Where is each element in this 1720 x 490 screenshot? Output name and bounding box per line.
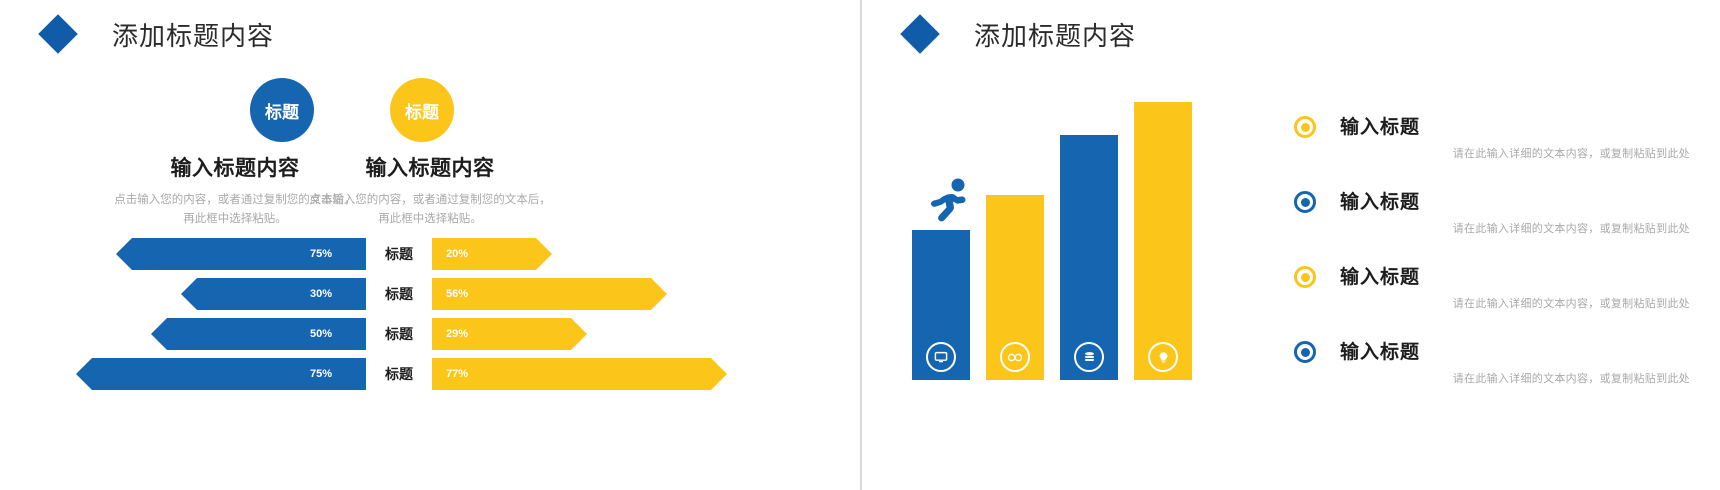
arrow-right-2[interactable]: 56% — [432, 278, 667, 310]
column-desc-2-line2: 再此框中选择粘贴。 — [300, 210, 560, 229]
database-icon — [1074, 342, 1104, 372]
slide-left-header: 添加标题内容 — [40, 14, 274, 54]
list-item-desc-4: 请在此输入详细的文本内容，或复制粘贴到此处 — [1340, 370, 1694, 386]
slide-right: 添加标题内容 — [860, 0, 1720, 490]
arrow-right-1[interactable]: 20% — [432, 238, 552, 270]
arrow-row-label-4: 标题 — [370, 358, 428, 390]
bar-chart-bars — [912, 90, 1242, 380]
arrow-row-label-3: 标题 — [370, 318, 428, 350]
page-title: 添加标题内容 — [112, 16, 274, 53]
bar-column-2 — [986, 195, 1044, 380]
list-item[interactable]: 输入标题 请在此输入详细的文本内容，或复制粘贴到此处 — [1294, 337, 1694, 386]
running-man-icon — [920, 174, 976, 230]
bar-column-1 — [912, 230, 970, 380]
bullet-ring-icon — [1294, 266, 1316, 288]
arrow-left-4[interactable]: 75% — [76, 358, 366, 390]
infinity-icon — [1000, 342, 1030, 372]
arrow-row: 30% 标题 56% — [0, 278, 860, 310]
arrow-row: 50% 标题 29% — [0, 318, 860, 350]
arrow-bar-chart: 75% 标题 20% 30% 标题 56% 50% 标题 29% 75% 标题 … — [0, 238, 860, 398]
slide-right-header: 添加标题内容 — [902, 14, 1136, 54]
list-item-title-4: 输入标题 — [1340, 337, 1694, 364]
list-item-title-1: 输入标题 — [1340, 112, 1694, 139]
arrow-left-3[interactable]: 50% — [151, 318, 366, 350]
logo-diamond-blue — [900, 14, 940, 54]
list-item[interactable]: 输入标题 请在此输入详细的文本内容，或复制粘贴到此处 — [1294, 262, 1694, 311]
bar-1[interactable] — [912, 230, 970, 380]
left-columns: 标题 输入标题内容 点击输入您的内容，或者通过复制您的文本后， 再此框中选择粘贴… — [0, 78, 860, 248]
list-item-title-2: 输入标题 — [1340, 187, 1694, 214]
bar-column-3 — [1060, 135, 1118, 380]
arrow-row: 75% 标题 20% — [0, 238, 860, 270]
list-item-desc-3: 请在此输入详细的文本内容，或复制粘贴到此处 — [1340, 295, 1694, 311]
column-badge-2: 标题 — [390, 78, 454, 142]
page-title: 添加标题内容 — [974, 16, 1136, 53]
feature-list: 输入标题 请在此输入详细的文本内容，或复制粘贴到此处 输入标题 请在此输入详细的… — [1294, 112, 1694, 412]
column-block-2: 标题 输入标题内容 点击输入您的内容，或者通过复制您的文本后， 再此框中选择粘贴… — [300, 78, 560, 229]
bar-chart — [912, 90, 1242, 380]
bullet-ring-icon — [1294, 116, 1316, 138]
bullet-ring-icon — [1294, 341, 1316, 363]
logo-diamond-blue — [38, 14, 78, 54]
list-item[interactable]: 输入标题 请在此输入详细的文本内容，或复制粘贴到此处 — [1294, 112, 1694, 161]
list-item-desc-1: 请在此输入详细的文本内容，或复制粘贴到此处 — [1340, 145, 1694, 161]
arrow-row-label-2: 标题 — [370, 278, 428, 310]
slide-deck: 添加标题内容 标题 输入标题内容 点击输入您的内容，或者通过复制您的文本后， 再… — [0, 0, 1720, 490]
arrow-row: 75% 标题 77% — [0, 358, 860, 390]
arrow-right-3[interactable]: 29% — [432, 318, 587, 350]
monitor-icon — [926, 342, 956, 372]
arrow-left-2[interactable]: 30% — [181, 278, 366, 310]
list-item-desc-2: 请在此输入详细的文本内容，或复制粘贴到此处 — [1340, 220, 1694, 236]
arrow-right-4[interactable]: 77% — [432, 358, 727, 390]
diamond-logo-icon — [40, 14, 96, 54]
bullet-ring-icon — [1294, 191, 1316, 213]
bar-3[interactable] — [1060, 135, 1118, 380]
bulb-icon — [1148, 342, 1178, 372]
bar-4[interactable] — [1134, 102, 1192, 380]
bar-column-4 — [1134, 102, 1192, 380]
list-item[interactable]: 输入标题 请在此输入详细的文本内容，或复制粘贴到此处 — [1294, 187, 1694, 236]
bar-2[interactable] — [986, 195, 1044, 380]
column-title-2: 输入标题内容 — [300, 152, 560, 182]
column-desc-2-line1: 点击输入您的内容，或者通过复制您的文本后， — [300, 191, 560, 210]
diamond-logo-icon — [902, 14, 958, 54]
slide-left: 添加标题内容 标题 输入标题内容 点击输入您的内容，或者通过复制您的文本后， 再… — [0, 0, 860, 490]
list-item-title-3: 输入标题 — [1340, 262, 1694, 289]
arrow-row-label-1: 标题 — [370, 238, 428, 270]
arrow-left-1[interactable]: 75% — [116, 238, 366, 270]
